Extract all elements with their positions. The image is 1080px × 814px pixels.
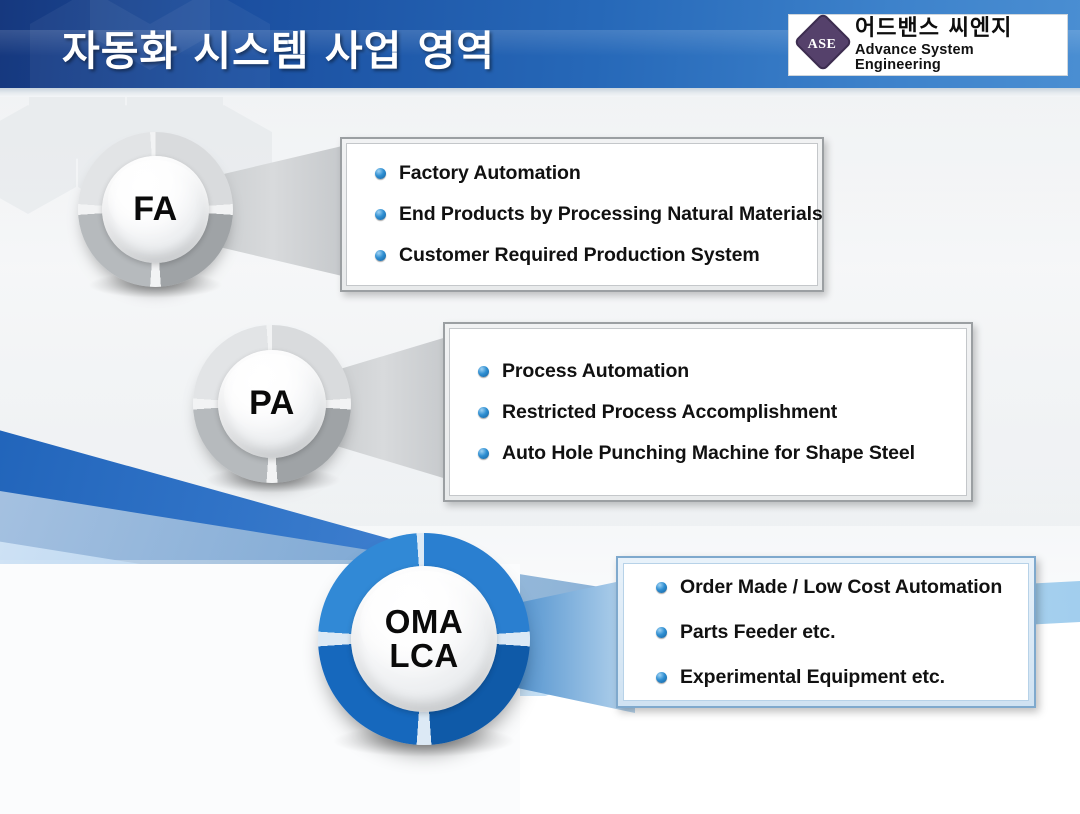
bullet-icon	[478, 366, 489, 377]
bullet-icon	[375, 250, 386, 261]
list-item-label: End Products by Processing Natural Mater…	[399, 203, 823, 226]
bullet-icon	[478, 448, 489, 459]
list-item-label: Customer Required Production System	[399, 244, 760, 267]
company-logo: ASE 어드밴스 씨엔지 Advance System Engineering	[788, 14, 1068, 76]
node-label-pa: PA	[249, 386, 295, 421]
ring-inner-fa: FA	[102, 156, 209, 263]
node-label-fa: FA	[133, 192, 177, 227]
bullet-icon	[656, 627, 667, 638]
card-oma-lca: Order Made / Low Cost Automation Parts F…	[616, 556, 1036, 708]
list-item-label: Process Automation	[502, 360, 689, 383]
list-item-label: Parts Feeder etc.	[680, 621, 835, 644]
bullet-icon	[656, 672, 667, 683]
ring-inner-oma-lca: OMA LCA	[351, 566, 497, 712]
list-item: Process Automation	[450, 360, 966, 383]
node-oma-lca[interactable]: OMA LCA	[318, 533, 530, 745]
node-label-lca: LCA	[389, 639, 458, 673]
list-item: Auto Hole Punching Machine for Shape Ste…	[450, 442, 966, 465]
list-item-label: Restricted Process Accomplishment	[502, 401, 837, 424]
hexagon-shape	[127, 92, 223, 132]
card-pa: Process Automation Restricted Process Ac…	[443, 322, 973, 502]
node-fa[interactable]: FA	[78, 132, 233, 287]
list-item-label: Order Made / Low Cost Automation	[680, 576, 1002, 599]
ring-inner-pa: PA	[218, 350, 326, 458]
header-underline	[0, 88, 1080, 97]
list-item: Restricted Process Accomplishment	[450, 401, 966, 424]
logo-text-block: 어드밴스 씨엔지 Advance System Engineering	[855, 18, 1061, 72]
node-label-oma: OMA	[385, 605, 464, 639]
card-fa: Factory Automation End Products by Proce…	[340, 137, 824, 292]
card-inner: Factory Automation End Products by Proce…	[346, 143, 818, 286]
list-item-label: Factory Automation	[399, 162, 581, 185]
bullet-icon	[478, 407, 489, 418]
logo-mark-text: ASE	[795, 18, 849, 72]
card-inner: Process Automation Restricted Process Ac…	[449, 328, 967, 496]
list-item-label: Auto Hole Punching Machine for Shape Ste…	[502, 442, 915, 465]
bullet-icon	[375, 209, 386, 220]
ring-fa: FA	[78, 132, 233, 287]
list-item: Experimental Equipment etc.	[624, 666, 1028, 689]
logo-name-english: Advance System Engineering	[855, 43, 1061, 72]
list-item: Factory Automation	[347, 162, 817, 185]
card-inner: Order Made / Low Cost Automation Parts F…	[623, 563, 1029, 701]
node-pa[interactable]: PA	[193, 325, 351, 483]
list-item: End Products by Processing Natural Mater…	[347, 203, 817, 226]
hexagon-shape	[29, 92, 125, 132]
list-item: Order Made / Low Cost Automation	[624, 576, 1028, 599]
bullet-icon	[656, 582, 667, 593]
bullet-icon	[375, 168, 386, 179]
slide-canvas: 자동화 시스템 사업 영역 ASE 어드밴스 씨엔지 Advance Syste…	[0, 0, 1080, 814]
list-item: Parts Feeder etc.	[624, 621, 1028, 644]
logo-name-korean: 어드밴스 씨엔지	[855, 18, 1061, 40]
ring-oma-lca: OMA LCA	[318, 533, 530, 745]
page-title: 자동화 시스템 사업 영역	[62, 17, 495, 77]
ase-diamond-icon: ASE	[795, 18, 849, 72]
ring-pa: PA	[193, 325, 351, 483]
list-item-label: Experimental Equipment etc.	[680, 666, 945, 689]
list-item: Customer Required Production System	[347, 244, 817, 267]
